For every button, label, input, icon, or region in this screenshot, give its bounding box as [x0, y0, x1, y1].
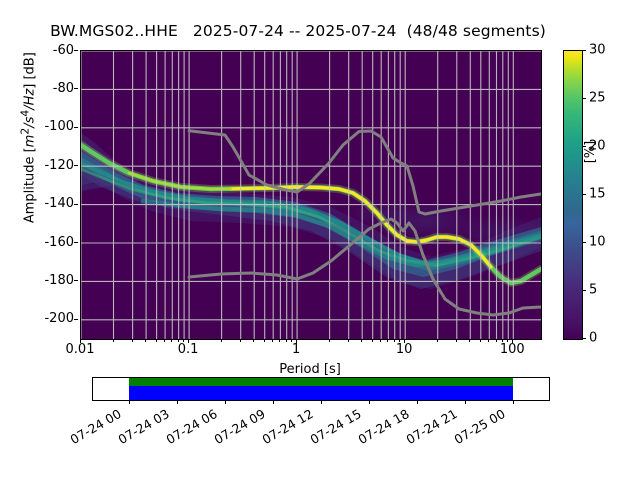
coverage-tick-label: 07-25 00 [452, 406, 508, 447]
colorbar-tick-label: 0 [589, 332, 597, 345]
colorbar[interactable] [563, 50, 583, 340]
coverage-tick-label: 07-24 18 [356, 406, 412, 447]
colorbar-label: [%] [583, 122, 598, 182]
colorbar-tick-label: 10 [589, 236, 606, 249]
coverage-tick-label: 07-24 03 [116, 406, 172, 447]
y-axis-tick-labels: -60 -80 -100 -120 -140 -160 -180 -200 [28, 50, 74, 338]
ytick-label: -200 [34, 312, 74, 325]
ytick-label: -80 [34, 82, 74, 95]
colorbar-tick-label: 15 [589, 188, 606, 201]
ytick-label: -120 [34, 159, 74, 172]
colorbar-tick-label: 5 [589, 284, 597, 297]
colorbar-tick-label: 25 [589, 92, 606, 105]
coverage-tick-label: 07-24 15 [308, 406, 364, 447]
x-axis-label: Period [s] [80, 362, 540, 377]
xtick-label: 0.01 [66, 342, 95, 357]
coverage-tick-label: 07-24 00 [68, 406, 124, 447]
coverage-tick-label: 07-24 12 [260, 406, 316, 447]
page-title: BW.MGS02..HHE 2025-07-24 -- 2025-07-24 (… [0, 22, 596, 40]
coverage-tick-label: 07-24 06 [164, 406, 220, 447]
ppsd-plot-area[interactable] [80, 50, 542, 340]
ytick-label: -140 [34, 197, 74, 210]
ppsd-figure: BW.MGS02..HHE 2025-07-24 -- 2025-07-24 (… [0, 0, 640, 480]
ytick-label: -180 [34, 274, 74, 287]
x-axis-tick-labels: 0.01 0.1 1 10 100 [80, 342, 540, 362]
ytick-label: -160 [34, 236, 74, 249]
ytick-label: -60 [34, 44, 74, 57]
xtick-label: 100 [500, 342, 525, 357]
psd-coverage-segment [129, 378, 513, 386]
ppsd-heatmap [81, 51, 541, 339]
colorbar-tick-label: 30 [589, 44, 606, 57]
data-coverage-bar[interactable] [92, 377, 550, 401]
ytick-label: -100 [34, 120, 74, 133]
xtick-label: 1 [292, 342, 300, 357]
data-coverage-segment [129, 386, 513, 400]
xtick-label: 0.1 [178, 342, 199, 357]
coverage-tick-label: 07-24 09 [212, 406, 268, 447]
coverage-tick-label: 07-24 21 [404, 406, 460, 447]
xtick-label: 10 [396, 342, 413, 357]
